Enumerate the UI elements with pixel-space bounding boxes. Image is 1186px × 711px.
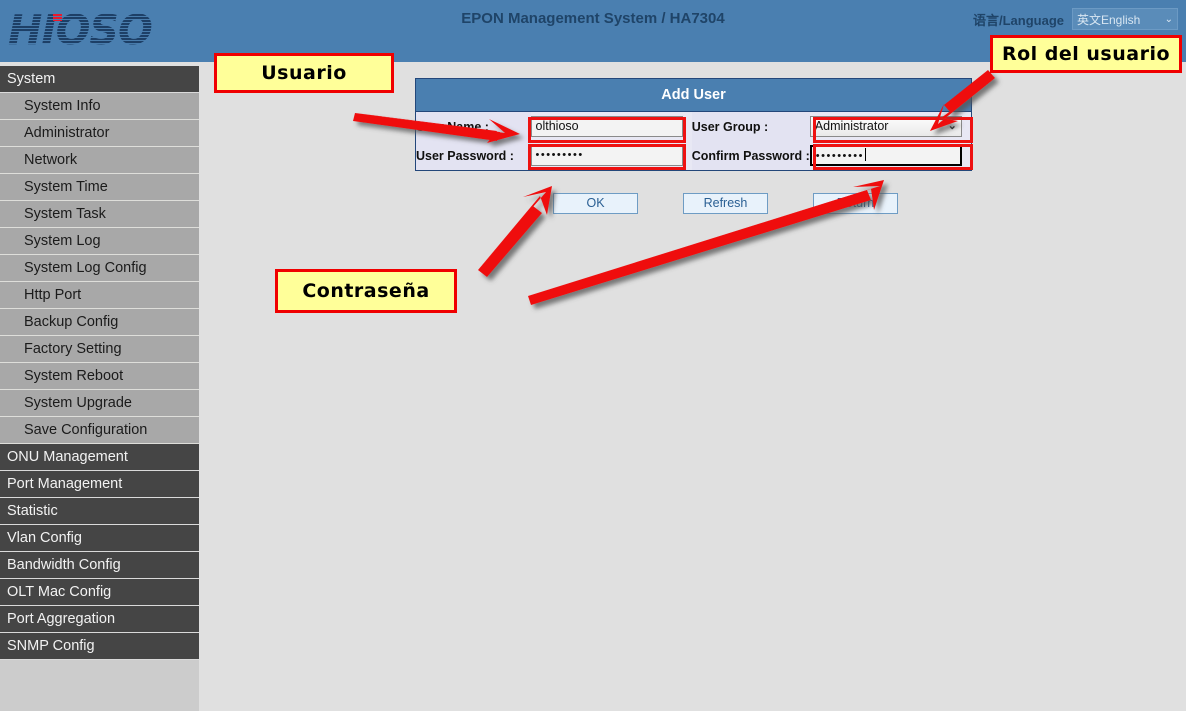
sidebar-item-factory-setting[interactable]: Factory Setting xyxy=(0,336,199,363)
add-user-form: User Name : olthioso User Group : Admini… xyxy=(416,112,971,170)
confirm-password-label: Confirm Password : xyxy=(692,141,810,170)
sidebar-item-system-task[interactable]: System Task xyxy=(0,201,199,228)
sidebar-item-network[interactable]: Network xyxy=(0,147,199,174)
language-label: 语言/Language xyxy=(973,10,1064,29)
sidebar-item-vlan-config[interactable]: Vlan Config xyxy=(0,525,199,552)
user-password-field-cell: ••••••••• xyxy=(531,141,692,170)
sidebar-item-system[interactable]: System xyxy=(0,66,199,93)
user-group-select-value: Administrator xyxy=(815,117,889,136)
sidebar-item-snmp-config[interactable]: SNMP Config xyxy=(0,633,199,660)
language-switcher: 语言/Language 英文English ⌄ xyxy=(973,8,1178,30)
form-row-name: User Name : olthioso User Group : Admini… xyxy=(416,112,971,141)
sidebar-item-system-log[interactable]: System Log xyxy=(0,228,199,255)
sidebar-item-port-management[interactable]: Port Management xyxy=(0,471,199,498)
add-user-panel: Add User User Name : olthioso User Group… xyxy=(415,78,972,171)
sidebar-item-statistic[interactable]: Statistic xyxy=(0,498,199,525)
sidebar-item-backup-config[interactable]: Backup Config xyxy=(0,309,199,336)
form-button-row: OK Refresh Return xyxy=(553,193,898,214)
page-root: HIOSO EPON Management System / HA7304 语言… xyxy=(0,0,1186,711)
sidebar-item-system-log-config[interactable]: System Log Config xyxy=(0,255,199,282)
sidebar-item-onu-management[interactable]: ONU Management xyxy=(0,444,199,471)
confirm-password-text: ••••••••• xyxy=(816,150,864,162)
sidebar-item-save-configuration[interactable]: Save Configuration xyxy=(0,417,199,444)
chevron-down-icon: ⌄ xyxy=(1165,14,1173,25)
return-button[interactable]: Return xyxy=(813,193,898,214)
sidebar-item-system-time[interactable]: System Time xyxy=(0,174,199,201)
sidebar-item-olt-mac-config[interactable]: OLT Mac Config xyxy=(0,579,199,606)
confirm-password-input[interactable]: ••••••••• xyxy=(810,145,962,166)
language-select[interactable]: 英文English ⌄ xyxy=(1072,8,1178,30)
annotation-contrasena: Contraseña xyxy=(275,269,457,313)
sidebar-nav: SystemSystem InfoAdministratorNetworkSys… xyxy=(0,66,199,711)
chevron-down-icon: ⌄ xyxy=(948,117,957,136)
form-row-password: User Password : ••••••••• Confirm Passwo… xyxy=(416,141,971,170)
annotation-usuario: Usuario xyxy=(214,53,394,93)
sidebar-item-system-upgrade[interactable]: System Upgrade xyxy=(0,390,199,417)
user-group-label: User Group : xyxy=(692,112,810,141)
ok-button[interactable]: OK xyxy=(553,193,638,214)
sidebar-item-http-port[interactable]: Http Port xyxy=(0,282,199,309)
sidebar-item-port-aggregation[interactable]: Port Aggregation xyxy=(0,606,199,633)
sidebar-item-system-reboot[interactable]: System Reboot xyxy=(0,363,199,390)
user-name-input[interactable]: olthioso xyxy=(531,116,683,137)
sidebar-item-bandwidth-config[interactable]: Bandwidth Config xyxy=(0,552,199,579)
user-group-field-cell: Administrator ⌄ xyxy=(810,112,971,141)
text-caret xyxy=(865,148,866,161)
user-password-label: User Password : xyxy=(416,141,531,170)
refresh-button[interactable]: Refresh xyxy=(683,193,768,214)
user-name-field-cell: olthioso xyxy=(531,112,692,141)
sidebar-item-administrator[interactable]: Administrator xyxy=(0,120,199,147)
language-select-value: 英文English xyxy=(1077,11,1140,28)
panel-title: Add User xyxy=(416,79,971,112)
user-password-input[interactable]: ••••••••• xyxy=(531,145,683,166)
annotation-rol-usuario: Rol del usuario xyxy=(990,35,1182,73)
confirm-password-field-cell: ••••••••• xyxy=(810,141,971,170)
user-group-select[interactable]: Administrator ⌄ xyxy=(810,116,962,137)
user-name-label: User Name : xyxy=(416,112,531,141)
sidebar-item-system-info[interactable]: System Info xyxy=(0,93,199,120)
